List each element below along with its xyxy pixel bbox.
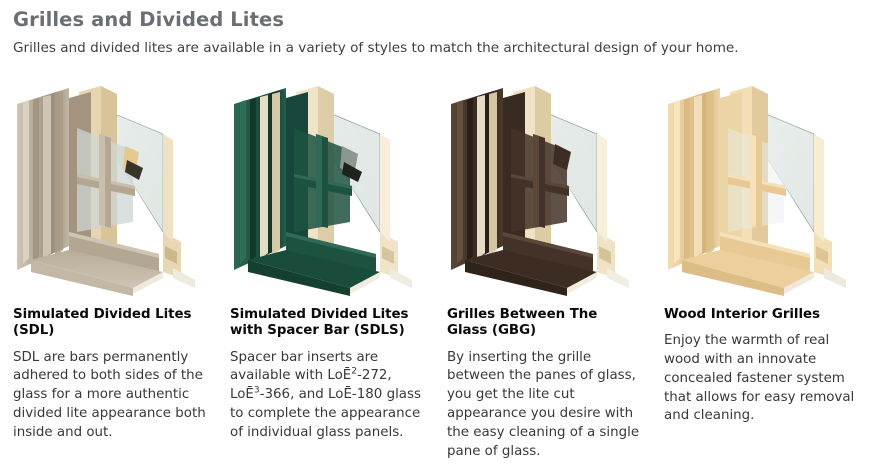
product-column-sdl: Simulated Divided Lites (SDL) SDL are ba… bbox=[0, 82, 217, 461]
card-body-sdl: SDL are bars permanently adhered to both… bbox=[13, 340, 207, 443]
card-title-wood: Wood Interior Grilles bbox=[664, 300, 858, 323]
grilles-and-divided-lites-page: Grilles and Divided Lites Grilles and di… bbox=[0, 0, 870, 474]
window-corner-cutaway-tan-image bbox=[13, 82, 207, 300]
window-cutaway-svg-brown bbox=[447, 82, 641, 300]
card-title-sdl: Simulated Divided Lites (SDL) bbox=[13, 300, 207, 340]
window-corner-cutaway-wood-image bbox=[664, 82, 858, 300]
window-cutaway-svg-green bbox=[230, 82, 424, 300]
card-body-gbg: By inserting the grille between the pane… bbox=[447, 340, 641, 462]
product-column-gbg: Grilles Between The Glass (GBG) By inser… bbox=[434, 82, 651, 461]
window-corner-cutaway-green-image bbox=[230, 82, 424, 300]
product-columns: Simulated Divided Lites (SDL) SDL are ba… bbox=[0, 82, 870, 461]
product-column-sdls: Simulated Divided Lites with Spacer Bar … bbox=[217, 82, 434, 461]
product-column-wood: Wood Interior Grilles Enjoy the warmth o… bbox=[651, 82, 868, 461]
page-title: Grilles and Divided Lites bbox=[0, 0, 870, 31]
page-intro-text: Grilles and divided lites are available … bbox=[0, 31, 870, 58]
card-body-wood: Enjoy the warmth of real wood with an in… bbox=[664, 323, 858, 426]
card-body-sdls: Spacer bar inserts are available with Lo… bbox=[230, 340, 424, 443]
window-corner-cutaway-brown-image bbox=[447, 82, 641, 300]
card-title-sdls: Simulated Divided Lites with Spacer Bar … bbox=[230, 300, 424, 340]
window-cutaway-svg-tan bbox=[13, 82, 207, 300]
window-cutaway-svg-wood bbox=[664, 82, 858, 300]
card-title-gbg: Grilles Between The Glass (GBG) bbox=[447, 300, 641, 340]
